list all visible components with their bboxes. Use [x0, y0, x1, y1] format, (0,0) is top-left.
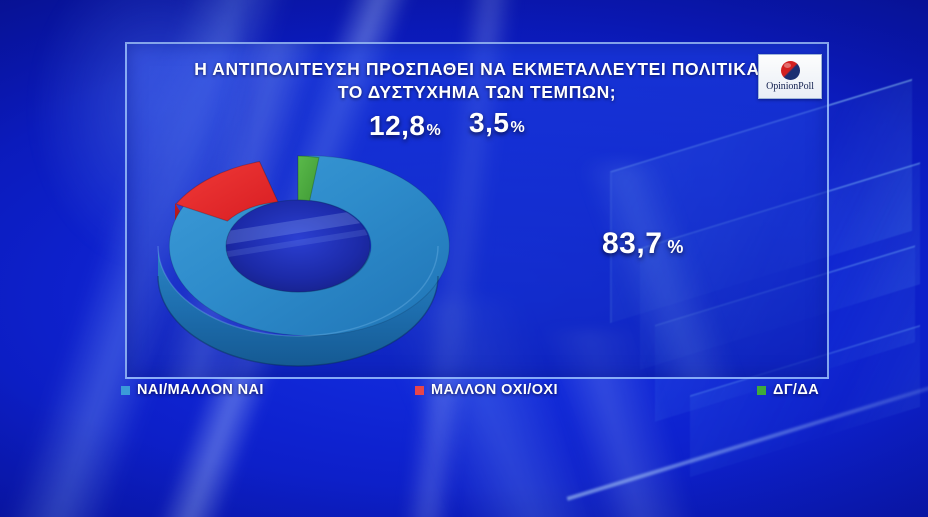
- split-circle-icon: [781, 61, 800, 80]
- logo-label: OpinionPoll: [766, 81, 814, 92]
- percent-sign-green: %: [510, 119, 524, 136]
- value-label-blue: 83,7%: [602, 229, 683, 259]
- opinionpoll-logo: OpinionPoll: [758, 54, 822, 99]
- legend-label-no: ΜΑΛΛΟΝ ΟΧΙ/ΟΧΙ: [431, 382, 558, 398]
- legend-label-dk: ΔΓ/ΔΑ: [773, 382, 819, 398]
- donut-chart-svg: [153, 128, 443, 358]
- legend-label-yes: ΝΑΙ/ΜΑΛΛΟΝ ΝΑΙ: [137, 382, 264, 398]
- legend-item-no: ΜΑΛΛΟΝ ΟΧΙ/ΟΧΙ: [415, 382, 558, 398]
- percent-sign-blue: %: [667, 237, 683, 257]
- donut-chart: [153, 128, 443, 358]
- legend-item-dk: ΔΓ/ΔΑ: [757, 382, 819, 398]
- title-line-1: Η ΑΝΤΙΠΟΛΙΤΕΥΣΗ ΠΡΟΣΠΑΘΕΙ ΝΑ ΕΚΜΕΤΑΛΛΕΥΤ…: [127, 58, 827, 81]
- broadcast-graphic: Η ΑΝΤΙΠΟΛΙΤΕΥΣΗ ΠΡΟΣΠΑΘΕΙ ΝΑ ΕΚΜΕΤΑΛΛΕΥΤ…: [0, 0, 928, 517]
- value-blue: 83,7: [602, 227, 662, 260]
- chart-panel: Η ΑΝΤΙΠΟΛΙΤΕΥΣΗ ΠΡΟΣΠΑΘΕΙ ΝΑ ΕΚΜΕΤΑΛΛΕΥΤ…: [125, 42, 829, 379]
- square-swatch-icon: [121, 386, 130, 395]
- legend-item-yes: ΝΑΙ/ΜΑΛΛΟΝ ΝΑΙ: [121, 382, 264, 398]
- value-label-green: 3,5%: [469, 109, 525, 137]
- square-swatch-icon: [757, 386, 766, 395]
- chart-legend: ΝΑΙ/ΜΑΛΛΟΝ ΝΑΙ ΜΑΛΛΟΝ ΟΧΙ/ΟΧΙ ΔΓ/ΔΑ: [0, 382, 928, 408]
- title-line-2: ΤΟ ΔΥΣΤΥΧΗΜΑ ΤΩΝ ΤΕΜΠΩΝ;: [127, 81, 827, 104]
- page-title: Η ΑΝΤΙΠΟΛΙΤΕΥΣΗ ΠΡΟΣΠΑΘΕΙ ΝΑ ΕΚΜΕΤΑΛΛΕΥΤ…: [127, 58, 827, 104]
- square-swatch-icon: [415, 386, 424, 395]
- panel-sheen-right: [457, 164, 829, 379]
- value-green: 3,5: [469, 107, 509, 138]
